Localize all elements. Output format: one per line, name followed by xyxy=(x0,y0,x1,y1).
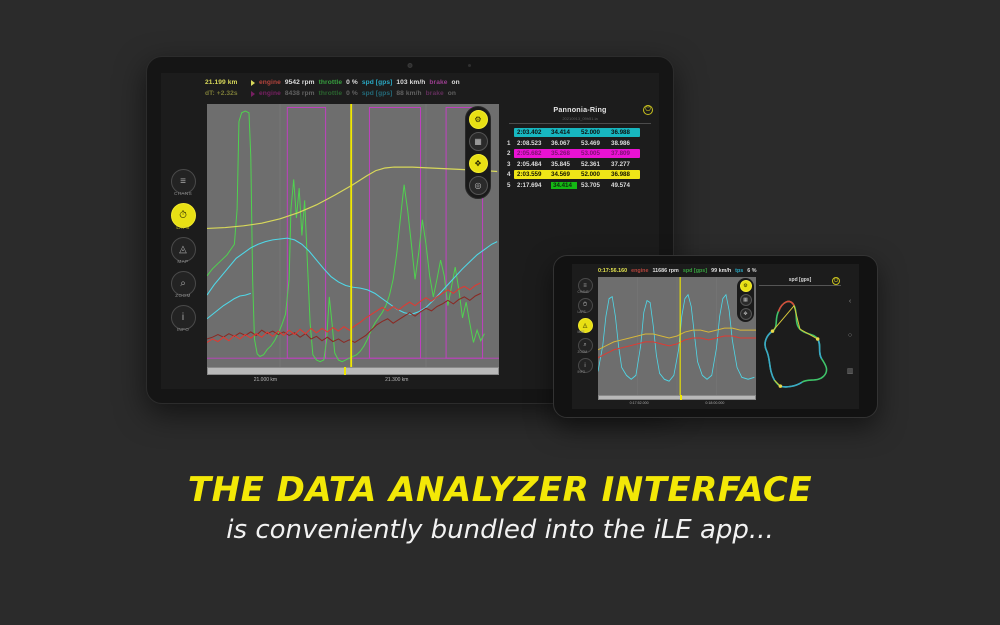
session-subtitle: 20210913_09h51.la xyxy=(509,114,651,124)
speed-value: 103 km/h xyxy=(396,77,425,88)
lap-time: 2:03.402 xyxy=(517,129,547,136)
tablet-sensor-icon xyxy=(468,64,471,67)
phone-plot-xaxis[interactable]: 0:17:52.000 0:18:00.000 xyxy=(598,395,756,408)
recents-icon[interactable]: ▥ xyxy=(847,367,854,375)
sidebar-label-info: INFO xyxy=(177,327,190,332)
phone-sidebar-item-map[interactable]: ◬ MAP xyxy=(578,318,593,334)
engine-label: engine xyxy=(259,77,281,88)
phone-xaxis-cursor[interactable] xyxy=(680,395,682,400)
throttle-value-ref: 0 % xyxy=(346,88,358,99)
phone-time-value: 0:17:56.160 xyxy=(598,268,627,274)
lap-time: 2:03.559 xyxy=(517,171,547,178)
lap-s1: 34.414 xyxy=(551,129,577,136)
phone-sidebar-label-map: MAP xyxy=(578,330,593,334)
brake-value-ref: on xyxy=(448,88,456,99)
lap-number: 4 xyxy=(506,171,514,178)
lap-values: 2:17.69434.41453.70549.574 xyxy=(514,181,640,190)
phone-sidebar-item-chans[interactable]: ≡ CHANS xyxy=(578,278,593,294)
table-row[interactable]: 52:17.69434.41453.70549.574 xyxy=(506,181,654,190)
lap-s3: 36.988 xyxy=(611,129,637,136)
reference-marker-icon xyxy=(251,91,255,97)
lap-s2: 52.000 xyxy=(581,129,607,136)
lap-s3: 37.277 xyxy=(611,161,637,168)
track-map-icon xyxy=(759,286,841,394)
phone-telemetry-readout: 0:17:56.160 engine 11686 rpm spd [gps] 9… xyxy=(598,266,855,276)
gear-icon[interactable]: ⚙ xyxy=(469,110,488,129)
lap-values: 2:03.40234.41452.00036.988 xyxy=(514,128,640,137)
speed-label: spd [gps] xyxy=(362,77,393,88)
sidebar-item-zoom[interactable]: ⌕ ZOOM xyxy=(171,271,196,298)
sidebar-label-laps: LAPS xyxy=(176,225,189,230)
lap-s2: 52.361 xyxy=(581,161,607,168)
throttle-label-ref: throttle xyxy=(319,88,343,99)
brake-value: on xyxy=(452,77,460,88)
sidebar-item-laps[interactable]: ⏱ LAPS xyxy=(171,203,196,230)
chart-icon[interactable]: ▦ xyxy=(740,294,752,306)
compass-icon[interactable]: ◎ xyxy=(469,176,488,195)
phone-tps-label: tps xyxy=(735,268,743,274)
sidebar-label-chans: CHANS xyxy=(174,191,192,196)
phone-sidebar-label-chans: CHANS xyxy=(578,290,593,294)
engine-value: 9542 rpm xyxy=(285,77,315,88)
table-row[interactable]: 42:03.55934.56952.00036.988 xyxy=(506,170,654,179)
engine-value-ref: 8438 rpm xyxy=(285,88,315,99)
poster-stage: 21.199 km engine 9542 rpm throttle 0 % s… xyxy=(0,0,1000,625)
headline: THE DATA ANALYZER INTERFACE xyxy=(0,470,1000,510)
phone-xaxis-tick-1: 0:18:00.000 xyxy=(705,401,724,405)
lap-s3: 49.574 xyxy=(611,182,637,189)
phone-device: 0:17:56.160 engine 11686 rpm spd [gps] 9… xyxy=(553,255,878,418)
home-icon[interactable]: ○ xyxy=(848,332,852,339)
xaxis-cursor[interactable] xyxy=(344,367,346,375)
phone-sidebar: ≡ CHANS ⏱ LAPS ◬ MAP ⌕ ZOOM i INFO xyxy=(574,278,596,374)
lap-s2: 53.469 xyxy=(581,140,607,147)
sidebar-label-zoom: ZOOM xyxy=(175,293,190,298)
phone-sidebar-item-laps[interactable]: ⏱ LAPS xyxy=(578,298,593,314)
engine-label-ref: engine xyxy=(259,88,281,99)
xaxis-scrollbar[interactable] xyxy=(207,367,499,375)
phone-sidebar-item-zoom[interactable]: ⌕ ZOOM xyxy=(578,338,593,354)
lap-values: 2:05.68235.26853.00537.809 xyxy=(514,149,640,158)
cursor-icon[interactable]: ✥ xyxy=(469,154,488,173)
power-icon[interactable]: ⏻ xyxy=(832,277,840,285)
throttle-value: 0 % xyxy=(346,77,358,88)
track-title: Pannonia-Ring xyxy=(503,103,657,114)
phone-engine-value: 11686 rpm xyxy=(652,268,678,274)
phone-sidebar-label-laps: LAPS xyxy=(578,310,593,314)
lap-s1: 34.414 xyxy=(551,182,577,189)
telemetry-plot[interactable] xyxy=(207,104,499,367)
plot-xaxis[interactable]: 21.000 km 21.300 km xyxy=(207,367,499,387)
sidebar-item-map[interactable]: ◬ MAP xyxy=(171,237,196,264)
distance-value: 21.199 km xyxy=(205,77,247,88)
brake-label: brake xyxy=(429,77,447,88)
lap-number: 2 xyxy=(506,150,514,157)
table-row[interactable]: 32:05.48435.84552.36137.277 xyxy=(506,160,654,169)
phone-navigation-bar: ‹ ○ ▥ xyxy=(843,284,857,389)
phone-track-map-panel[interactable]: ⏻ spd [gps] xyxy=(759,277,841,395)
lap-s2: 53.705 xyxy=(581,182,607,189)
telemetry-readout: 21.199 km engine 9542 rpm throttle 0 % s… xyxy=(205,77,653,103)
lap-s3: 36.988 xyxy=(611,171,637,178)
xaxis-tick-1: 21.300 km xyxy=(385,377,408,383)
readout-row-primary: 21.199 km engine 9542 rpm throttle 0 % s… xyxy=(205,77,653,88)
table-row[interactable]: 12:08.52336.06753.46938.986 xyxy=(506,139,654,148)
lap-s2: 53.005 xyxy=(581,150,607,157)
delta-time-value: dT: +2.32s xyxy=(205,88,247,99)
lap-s1: 35.845 xyxy=(551,161,577,168)
speed-value-ref: 88 km/h xyxy=(396,88,421,99)
throttle-label: throttle xyxy=(319,77,343,88)
lap-time: 2:17.694 xyxy=(517,182,547,189)
lap-values: 2:05.48435.84552.36137.277 xyxy=(514,160,640,169)
phone-map-title: spd [gps] xyxy=(759,277,841,286)
table-row[interactable]: 2:03.40234.41452.00036.988 xyxy=(506,128,654,137)
phone-speed-label: spd [gps] xyxy=(683,268,707,274)
lap-time: 2:08.523 xyxy=(517,140,547,147)
sidebar-label-map: MAP xyxy=(177,259,188,264)
lap-table: 2:03.40234.41452.00036.98812:08.52336.06… xyxy=(503,124,657,190)
phone-tps-value: 6 % xyxy=(747,268,756,274)
back-icon[interactable]: ‹ xyxy=(849,298,851,305)
lap-time: 2:05.682 xyxy=(517,150,547,157)
sidebar-item-info[interactable]: i INFO xyxy=(171,305,196,332)
tablet-sidebar: ≡ CHANS ⏱ LAPS ◬ MAP ⌕ ZOOM i INFO xyxy=(165,169,201,332)
phone-sidebar-label-zoom: ZOOM xyxy=(578,350,593,354)
lap-time: 2:05.484 xyxy=(517,161,547,168)
lap-number: 5 xyxy=(506,182,514,189)
table-row[interactable]: 22:05.68235.26853.00537.809 xyxy=(506,149,654,158)
sidebar-item-chans[interactable]: ≡ CHANS xyxy=(171,169,196,196)
phone-speed-value: 99 km/h xyxy=(711,268,731,274)
cursor-marker-icon xyxy=(251,80,255,86)
lap-values: 2:03.55934.56952.00036.988 xyxy=(514,170,640,179)
lap-s3: 37.809 xyxy=(611,150,637,157)
cursor-icon[interactable]: ✥ xyxy=(740,308,752,320)
power-icon[interactable]: ⏻ xyxy=(643,105,653,115)
lap-s2: 52.000 xyxy=(581,171,607,178)
phone-sidebar-item-info[interactable]: i INFO xyxy=(578,358,593,374)
phone-screen: 0:17:56.160 engine 11686 rpm spd [gps] 9… xyxy=(572,264,859,409)
speed-label-ref: spd [gps] xyxy=(362,88,393,99)
brake-label-ref: brake xyxy=(426,88,444,99)
readout-row-reference: dT: +2.32s engine 8438 rpm throttle 0 % … xyxy=(205,88,653,99)
caption-block: THE DATA ANALYZER INTERFACE is convenien… xyxy=(0,470,1000,545)
phone-xaxis-scrollbar[interactable] xyxy=(598,395,756,400)
lap-s1: 34.569 xyxy=(551,171,577,178)
subline: is conveniently bundled into the iLE app… xyxy=(0,515,1000,545)
phone-sidebar-label-info: INFO xyxy=(578,370,593,374)
lap-s1: 36.067 xyxy=(551,140,577,147)
plot-tool-buttons: ⚙ ▦ ✥ ◎ xyxy=(465,106,491,199)
xaxis-tick-0: 21.000 km xyxy=(254,377,277,383)
lap-s1: 35.268 xyxy=(551,150,577,157)
phone-telemetry-plot[interactable] xyxy=(598,277,756,395)
lap-values: 2:08.52336.06753.46938.986 xyxy=(514,139,640,148)
lap-s3: 38.986 xyxy=(611,140,637,147)
phone-xaxis-tick-0: 0:17:52.000 xyxy=(630,401,649,405)
lap-number: 1 xyxy=(506,140,514,147)
phone-engine-label: engine xyxy=(631,268,648,274)
chart-icon[interactable]: ▦ xyxy=(469,132,488,151)
tablet-camera-icon xyxy=(408,63,413,68)
gear-icon[interactable]: ⚙ xyxy=(740,280,752,292)
lap-number: 3 xyxy=(506,161,514,168)
phone-plot-tool-buttons: ⚙ ▦ ✥ xyxy=(737,278,754,322)
